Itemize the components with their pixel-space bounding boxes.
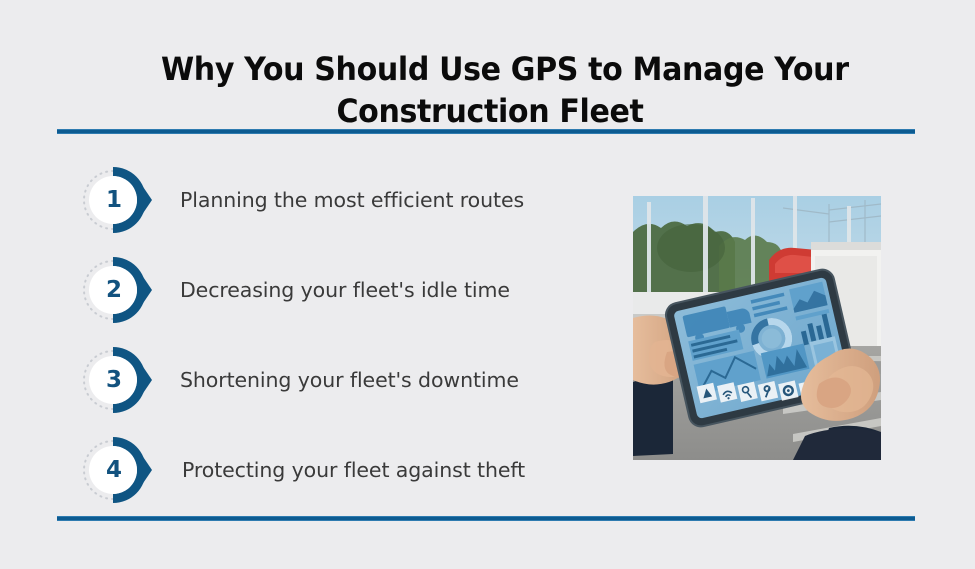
- divider-line-bottom: [57, 516, 915, 521]
- hero-photo: [633, 196, 881, 460]
- list-item-label: Protecting your fleet against theft: [182, 458, 525, 482]
- step-number: 1: [82, 164, 144, 236]
- list-item: 4 Protecting your fleet against theft: [0, 425, 620, 515]
- list-item-label: Planning the most efficient routes: [180, 188, 524, 212]
- list-item: 2 Decreasing your fleet's idle time: [0, 245, 620, 335]
- infographic-canvas: Why You Should Use GPS to Manage Your Co…: [0, 0, 975, 569]
- page-title-line-2: Construction Fleet: [161, 90, 819, 132]
- divider-line-top: [57, 129, 915, 134]
- list-item-label: Decreasing your fleet's idle time: [180, 278, 510, 302]
- benefits-list: 1 Planning the most efficient routes 2 D…: [0, 155, 620, 515]
- list-item: 1 Planning the most efficient routes: [0, 155, 620, 245]
- step-badge-4: 4: [82, 434, 154, 506]
- list-item-label: Shortening your fleet's downtime: [180, 368, 519, 392]
- step-badge-3: 3: [82, 344, 154, 416]
- step-number: 3: [82, 344, 144, 416]
- list-item: 3 Shortening your fleet's downtime: [0, 335, 620, 425]
- step-badge-1: 1: [82, 164, 154, 236]
- page-title-line-1: Why You Should Use GPS to Manage Your: [161, 48, 819, 90]
- step-number: 2: [82, 254, 144, 326]
- step-number: 4: [82, 434, 144, 506]
- page-title: Why You Should Use GPS to Manage Your Co…: [140, 48, 840, 132]
- step-badge-2: 2: [82, 254, 154, 326]
